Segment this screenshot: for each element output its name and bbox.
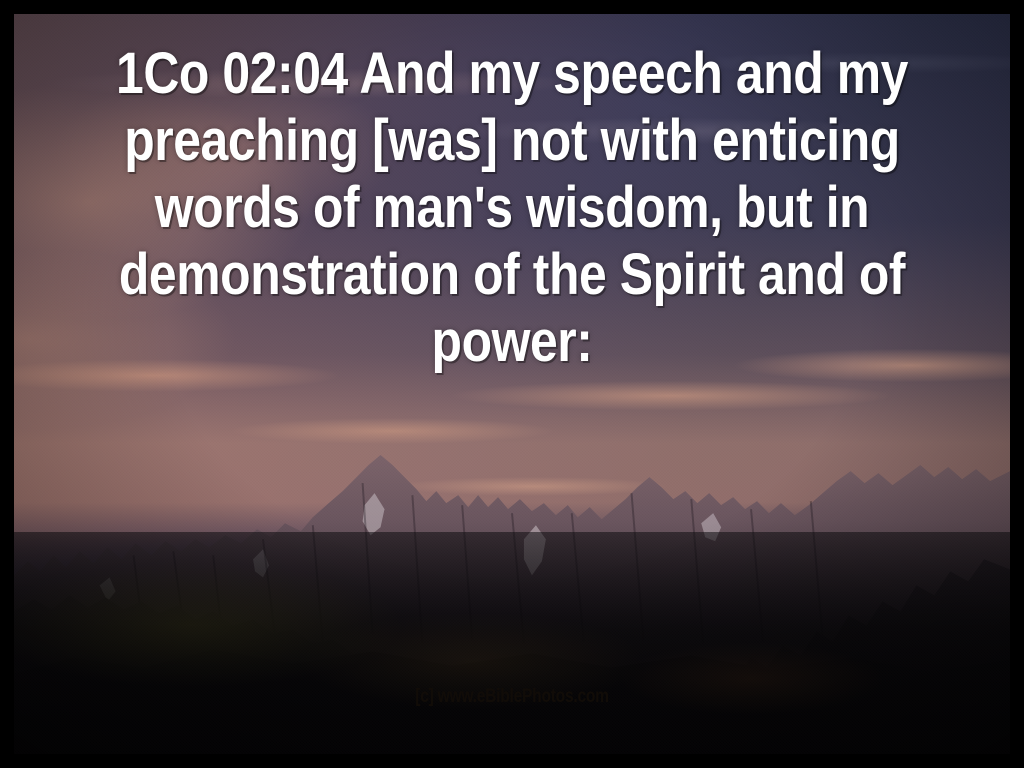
- dark-valley-foreground: [14, 532, 1010, 754]
- photograph: [c] www.eBiblePhotos.com: [14, 14, 1010, 754]
- verse-image: [c] www.eBiblePhotos.com 1Co 02:04 And m…: [0, 0, 1024, 768]
- copyright-watermark: [c] www.eBiblePhotos.com: [104, 686, 921, 708]
